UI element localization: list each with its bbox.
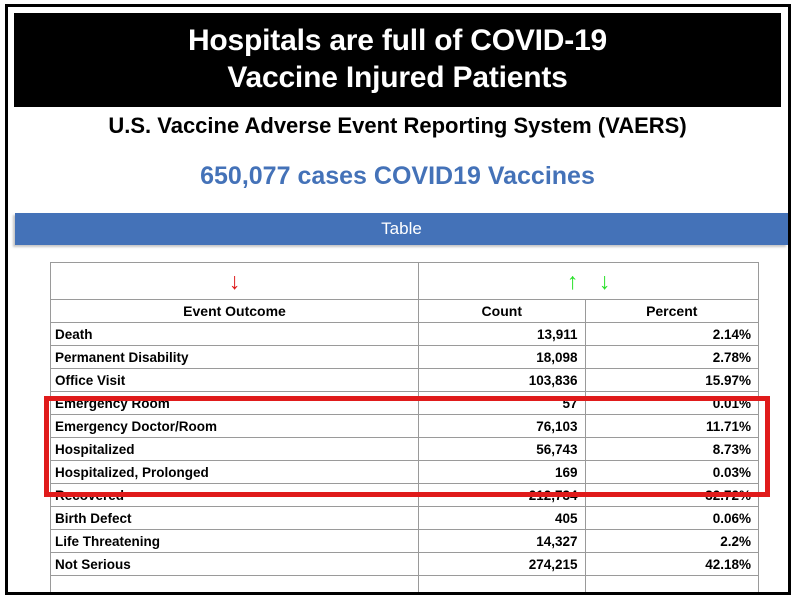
cell-count: 76,103 (419, 415, 584, 437)
cell-percent: 15.97% (586, 369, 759, 391)
table-row: Office Visit 103,836 15.97% (51, 369, 758, 391)
column-header-count[interactable]: Count (419, 300, 584, 322)
cell-outcome: Birth Defect (51, 507, 418, 529)
table-row: Not Serious 274,215 42.18% (51, 553, 758, 575)
cell-count: 405 (419, 507, 584, 529)
cell-outcome: Office Visit (51, 369, 418, 391)
arrow-down-icon[interactable]: ↓ (229, 270, 241, 293)
cell-outcome: Permanent Disability (51, 346, 418, 368)
cell-percent: 2.14% (586, 323, 759, 345)
table-row: Recovered 212,734 32.72% (51, 484, 758, 506)
cell-outcome (51, 576, 418, 595)
headline-banner: Hospitals are full of COVID-19 Vaccine I… (14, 13, 781, 107)
cell-outcome: Hospitalized, Prolonged (51, 461, 418, 483)
cell-percent: 2.78% (586, 346, 759, 368)
total-cases-line: 650,077 cases COVID19 Vaccines (14, 162, 781, 191)
cell-count: 274,215 (419, 553, 584, 575)
cell-percent (586, 576, 759, 595)
cell-outcome: Recovered (51, 484, 418, 506)
table-row: Death 13,911 2.14% (51, 323, 758, 345)
cell-outcome: Emergency Doctor/Room (51, 415, 418, 437)
arrow-up-icon[interactable]: ↑ (567, 270, 579, 293)
table-row: Hospitalized 56,743 8.73% (51, 438, 758, 460)
cell-count: 14,327 (419, 530, 584, 552)
headline-line-1: Hospitals are full of COVID-19 (188, 23, 607, 60)
vaers-outcome-table: ↓ ↑ ↓ Event Outcome Count Percent Death … (50, 262, 759, 595)
section-bar-label: Table (381, 219, 422, 239)
table-row: Emergency Doctor/Room 76,103 11.71% (51, 415, 758, 437)
cell-count: 56,743 (419, 438, 584, 460)
cell-percent: 0.01% (586, 392, 759, 414)
table-sort-row: ↓ ↑ ↓ (51, 263, 758, 299)
cell-percent: 32.72% (586, 484, 759, 506)
column-header-percent[interactable]: Percent (586, 300, 759, 322)
cell-percent: 11.71% (586, 415, 759, 437)
cell-outcome: Not Serious (51, 553, 418, 575)
table-row: Emergency Room 57 0.01% (51, 392, 758, 414)
cell-percent: 2.2% (586, 530, 759, 552)
cell-outcome: Death (51, 323, 418, 345)
cell-count: 103,836 (419, 369, 584, 391)
cell-outcome: Life Threatening (51, 530, 418, 552)
table-header-row: Event Outcome Count Percent (51, 300, 758, 322)
cell-count: 212,734 (419, 484, 584, 506)
cell-count: 13,911 (419, 323, 584, 345)
table-row: Life Threatening 14,327 2.2% (51, 530, 758, 552)
cell-percent: 0.06% (586, 507, 759, 529)
poster-frame: Hospitals are full of COVID-19 Vaccine I… (5, 4, 791, 595)
column-header-event-outcome[interactable]: Event Outcome (51, 300, 418, 322)
cell-percent: 42.18% (586, 553, 759, 575)
headline-line-2: Vaccine Injured Patients (227, 60, 567, 97)
table-row: Permanent Disability 18,098 2.78% (51, 346, 758, 368)
cell-outcome: Hospitalized (51, 438, 418, 460)
cell-count: 169 (419, 461, 584, 483)
cell-count: 18,098 (419, 346, 584, 368)
cell-outcome: Emergency Room (51, 392, 418, 414)
cell-count: 57 (419, 392, 584, 414)
table-row: Birth Defect 405 0.06% (51, 507, 758, 529)
outcome-sort-cell[interactable]: ↓ (51, 263, 418, 299)
cell-count (419, 576, 584, 595)
section-bar-table: Table (15, 213, 788, 245)
table-row-partial (51, 576, 758, 595)
cell-percent: 0.03% (586, 461, 759, 483)
value-sort-cell[interactable]: ↑ ↓ (419, 263, 758, 299)
table-row: Hospitalized, Prolonged 169 0.03% (51, 461, 758, 483)
subtitle-vaers: U.S. Vaccine Adverse Event Reporting Sys… (14, 113, 781, 139)
arrow-down-icon[interactable]: ↓ (599, 270, 611, 293)
cell-percent: 8.73% (586, 438, 759, 460)
